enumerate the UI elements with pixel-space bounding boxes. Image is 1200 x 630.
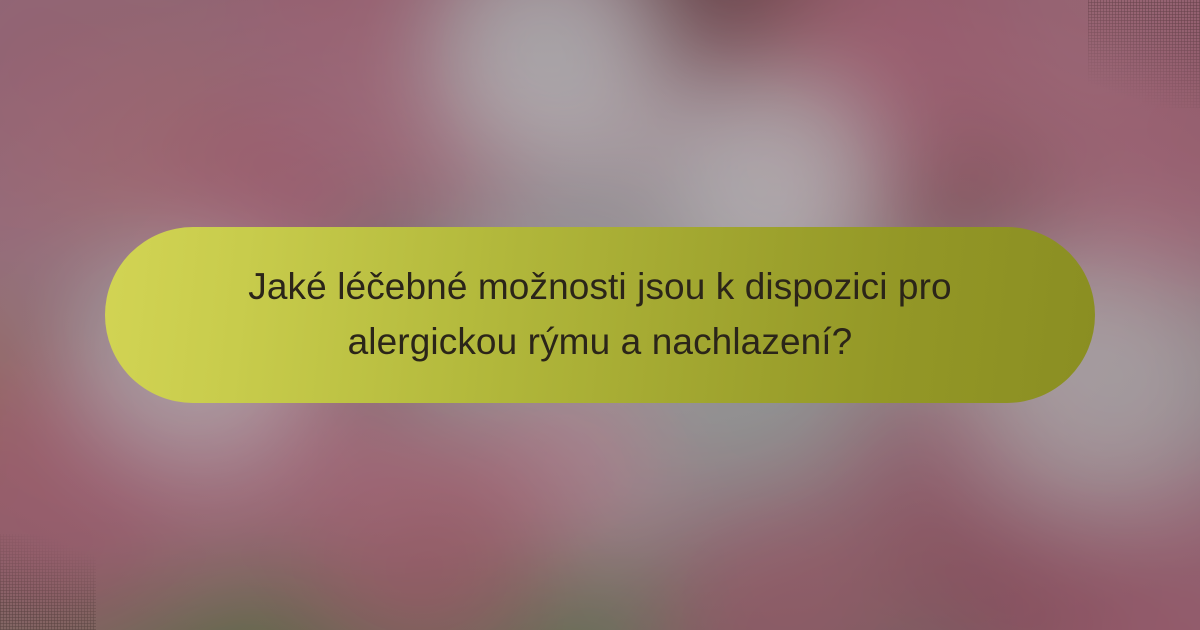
dither-patch-top-right [1088,0,1200,108]
dither-patch-bottom-left [0,534,96,630]
question-text: Jaké léčebné možnosti jsou k dispozici p… [201,260,999,370]
question-pill: Jaké léčebné možnosti jsou k dispozici p… [105,227,1095,403]
question-card: Jaké léčebné možnosti jsou k dispozici p… [0,0,1200,630]
question-pill-container: Jaké léčebné možnosti jsou k dispozici p… [0,227,1200,403]
